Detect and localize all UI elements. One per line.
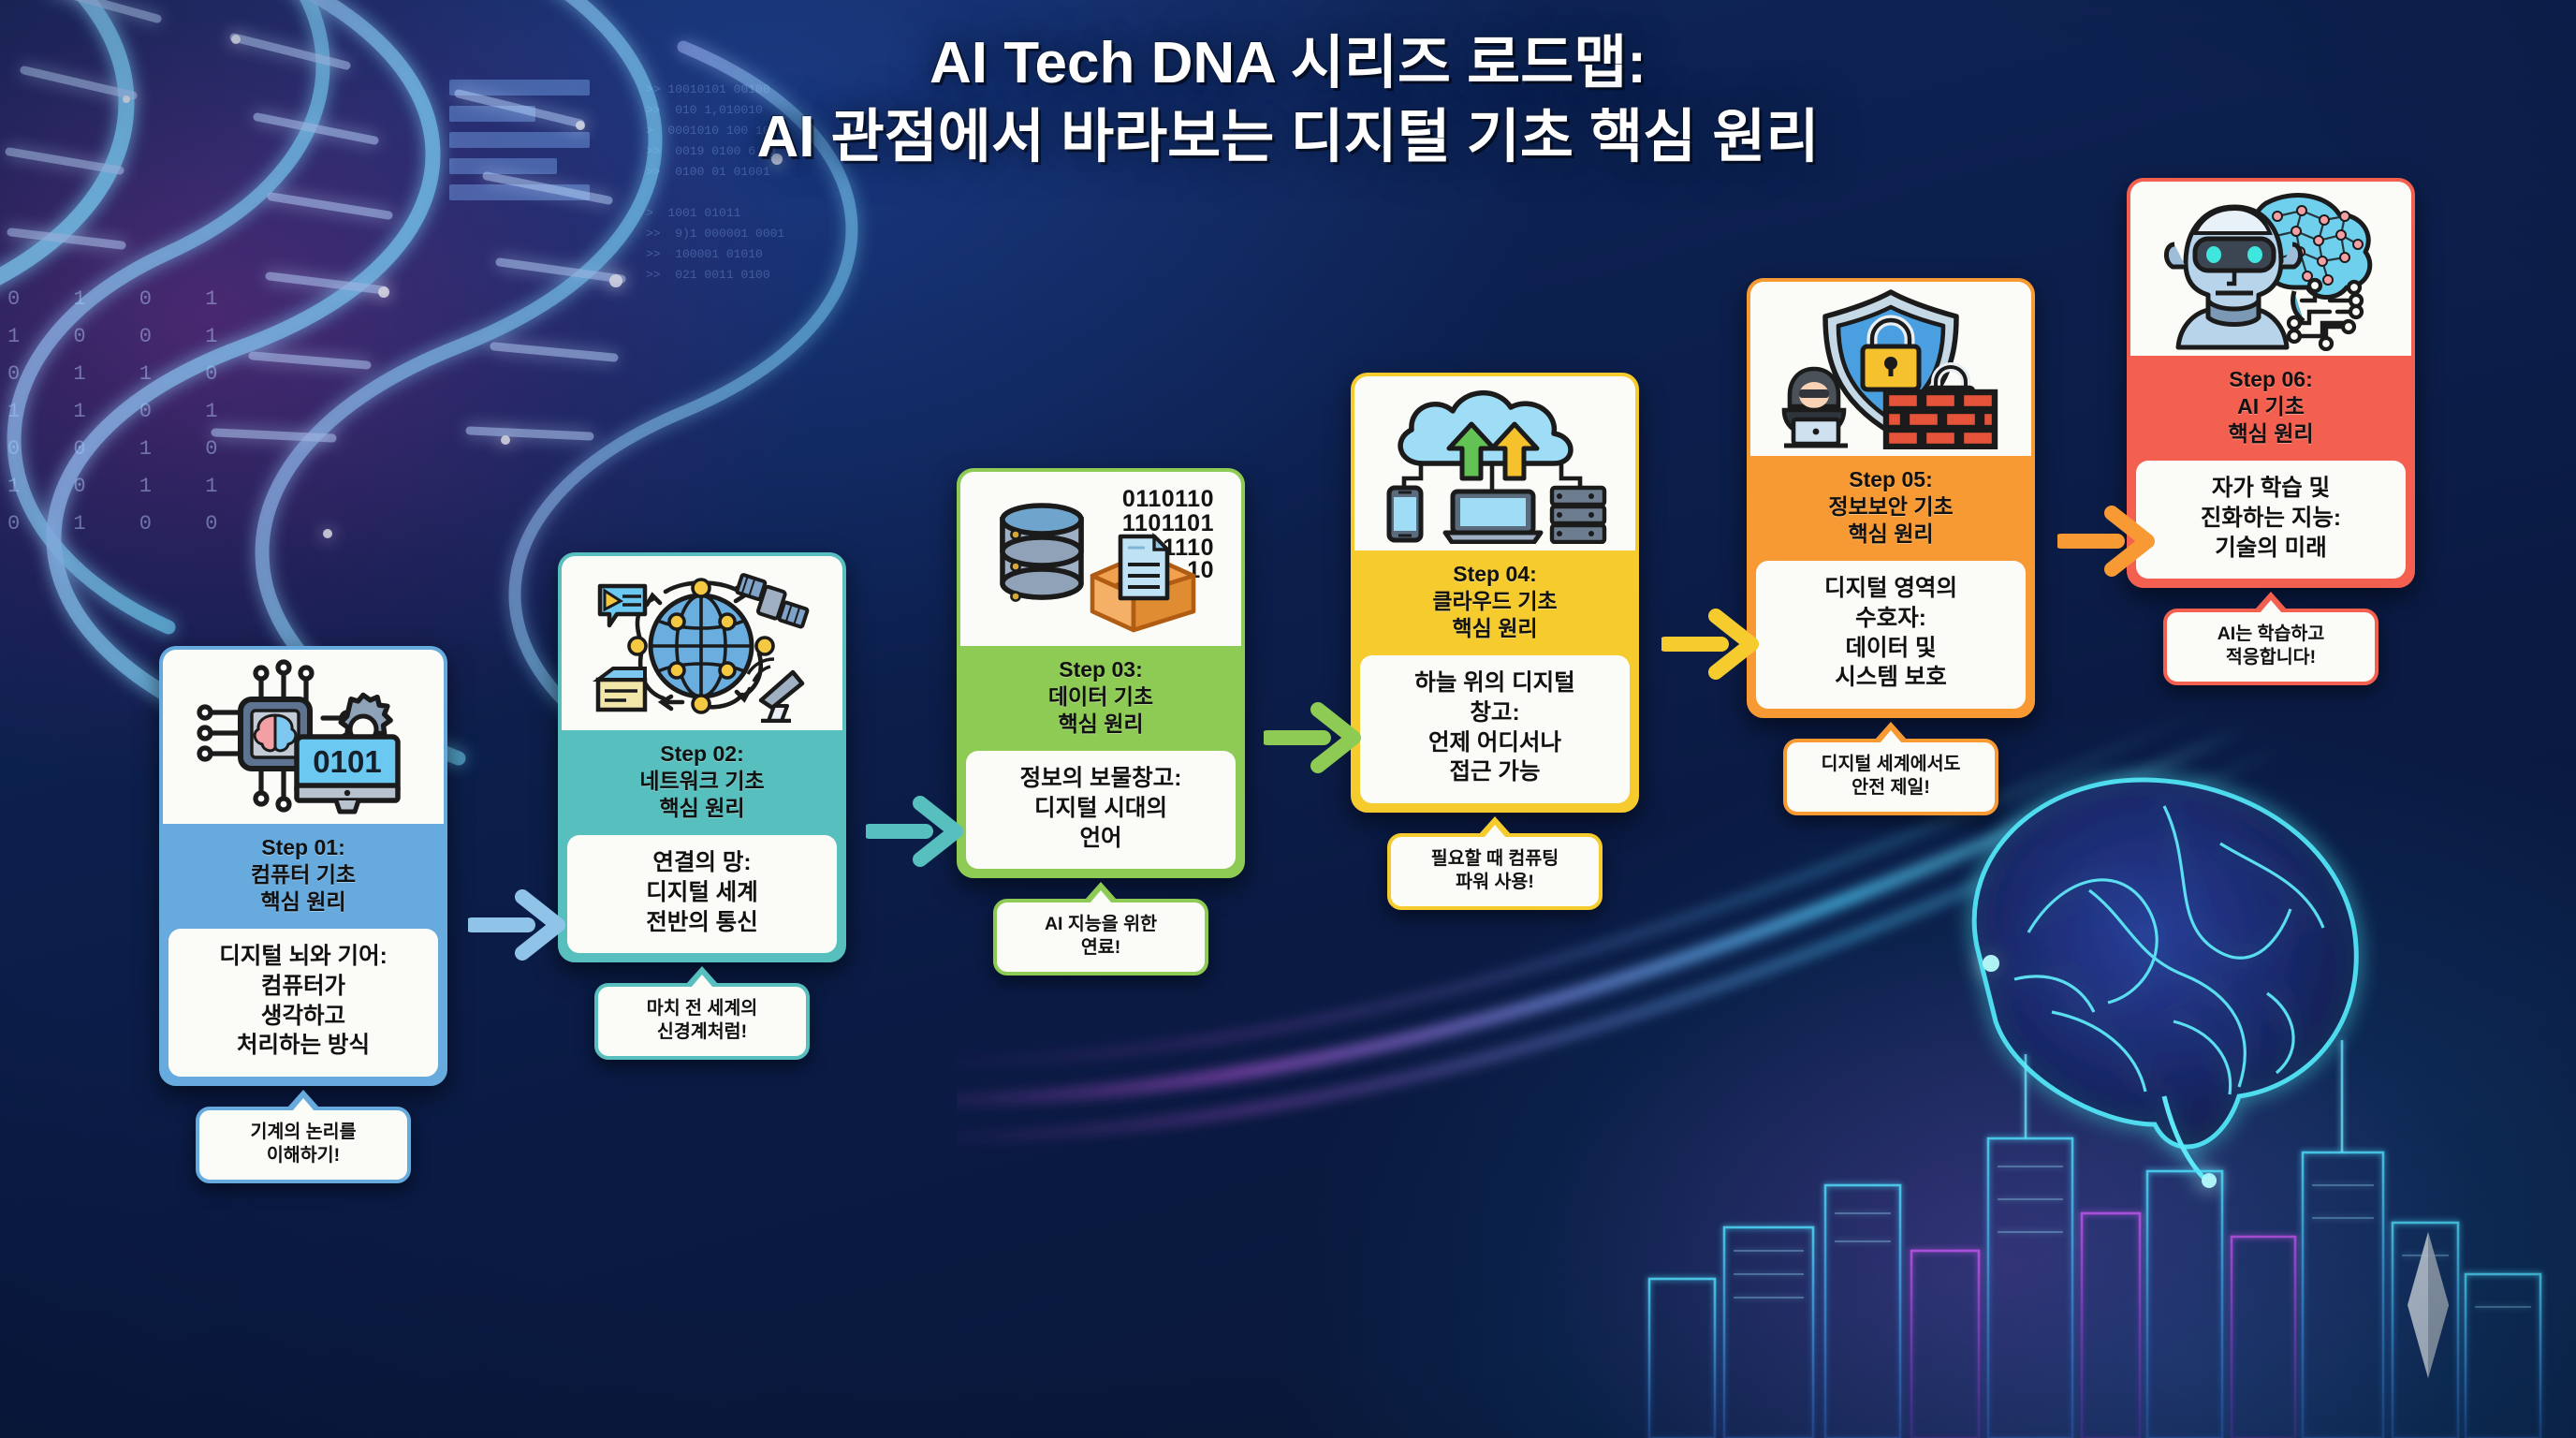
step-03-title: Step 03: 데이터 기초 핵심 원리: [960, 646, 1241, 751]
step-04-callout: 필요할 때 컴퓨팅 파워 사용!: [1387, 833, 1603, 910]
database-box-binary-icon: 0110110 1101101 0101110 10: [960, 472, 1241, 646]
step-01-description: 디지털 뇌와 기어: 컴퓨터가 생각하고 처리하는 방식: [168, 929, 438, 1077]
step-card-step-06[interactable]: Step 06: AI 기초 핵심 원리 자가 학습 및 진화하는 지능: 기술…: [2127, 178, 2415, 685]
step-03-description: 정보의 보물창고: 디지털 시대의 언어: [966, 751, 1236, 870]
step-05-step-label: Step 05:: [1756, 466, 2026, 493]
step-02-title-line2: 핵심 원리: [567, 795, 837, 822]
step-05-card-body: Step 05: 정보보안 기초 핵심 원리 디지털 영역의 수호자: 데이터 …: [1747, 278, 2035, 718]
step-02-step-label: Step 02:: [567, 741, 837, 768]
step-04-card-body: Step 04: 클라우드 기초 핵심 원리 하늘 위의 디지털 창고: 언제 …: [1351, 373, 1639, 813]
step-06-title: Step 06: AI 기초 핵심 원리: [2130, 356, 2411, 461]
step-04-title: Step 04: 클라우드 기초 핵심 원리: [1354, 550, 1635, 655]
step-06-title-line1: AI 기초: [2136, 393, 2406, 420]
step-04-step-label: Step 04:: [1360, 561, 1630, 588]
step-04-description: 하늘 위의 디지털 창고: 언제 어디서나 접근 가능: [1360, 655, 1630, 803]
step-02-card-body: Step 02: 네트워크 기초 핵심 원리 연결의 망: 디지털 세계 전반의…: [558, 552, 846, 962]
step-03-title-line1: 데이터 기초: [966, 683, 1236, 711]
step-01-title: Step 01: 컴퓨터 기초 핵심 원리: [163, 824, 444, 929]
arrow-4-to-5: [1661, 599, 1772, 689]
chip-brain-gear-monitor-icon: 0101: [163, 650, 444, 824]
step-06-description: 자가 학습 및 진화하는 지능: 기술의 미래: [2136, 461, 2406, 580]
step-02-title: Step 02: 네트워크 기초 핵심 원리: [562, 730, 842, 835]
arrow-3-to-4: [1264, 693, 1374, 783]
step-card-step-01[interactable]: 0101 Step 01: 컴퓨터 기초 핵심 원리 디지털 뇌와 기어: 컴퓨…: [159, 646, 447, 1183]
step-card-step-05[interactable]: Step 05: 정보보안 기초 핵심 원리 디지털 영역의 수호자: 데이터 …: [1747, 278, 2035, 815]
step-01-title-line2: 핵심 원리: [168, 888, 438, 916]
step-04-title-line2: 핵심 원리: [1360, 615, 1630, 642]
step-card-step-02[interactable]: Step 02: 네트워크 기초 핵심 원리 연결의 망: 디지털 세계 전반의…: [558, 552, 846, 1060]
step-03-callout: AI 지능을 위한 연료!: [993, 899, 1208, 976]
monitor-binary-label: 0101: [313, 744, 381, 779]
arrow-5-to-6: [2057, 496, 2168, 586]
title-line-2: AI 관점에서 바라보는 디지털 기초 핵심 원리: [0, 100, 2576, 174]
cloud-devices-server-icon: [1354, 376, 1635, 550]
shield-lock-firewall-hacker-icon: [1750, 282, 2031, 456]
step-05-title: Step 05: 정보보안 기초 핵심 원리: [1750, 456, 2031, 561]
title-line-1: AI Tech DNA 시리즈 로드맵:: [0, 26, 2576, 100]
step-01-callout: 기계의 논리를 이해하기!: [196, 1107, 411, 1183]
step-03-step-label: Step 03:: [966, 656, 1236, 683]
page-title: AI Tech DNA 시리즈 로드맵: AI 관점에서 바라보는 디지털 기초…: [0, 26, 2576, 175]
step-06-title-line2: 핵심 원리: [2136, 420, 2406, 448]
binary-line-1: 0110110: [1122, 486, 1214, 512]
step-03-title-line2: 핵심 원리: [966, 711, 1236, 738]
step-02-title-line1: 네트워크 기초: [567, 768, 837, 795]
step-card-step-04[interactable]: Step 04: 클라우드 기초 핵심 원리 하늘 위의 디지털 창고: 언제 …: [1351, 373, 1639, 910]
step-01-step-label: Step 01:: [168, 834, 438, 861]
step-06-callout: AI는 학습하고 적응합니다!: [2163, 609, 2378, 685]
step-05-callout: 디지털 세계에서도 안전 제일!: [1783, 739, 1998, 815]
globe-network-satellite-icon: [562, 556, 842, 730]
arrow-2-to-3: [866, 786, 976, 876]
step-05-title-line1: 정보보안 기초: [1756, 493, 2026, 521]
step-06-step-label: Step 06:: [2136, 366, 2406, 393]
step-06-card-body: Step 06: AI 기초 핵심 원리 자가 학습 및 진화하는 지능: 기술…: [2127, 178, 2415, 588]
step-02-callout: 마치 전 세계의 신경계처럼!: [594, 983, 810, 1060]
step-card-step-03[interactable]: 0110110 1101101 0101110 10: [957, 468, 1245, 976]
step-04-title-line1: 클라우드 기초: [1360, 588, 1630, 615]
step-03-card-body: 0110110 1101101 0101110 10: [957, 468, 1245, 878]
arrow-1-to-2: [468, 880, 578, 970]
step-01-title-line1: 컴퓨터 기초: [168, 861, 438, 888]
step-05-title-line2: 핵심 원리: [1756, 521, 2026, 548]
binary-line-2: 1101101: [1122, 510, 1214, 536]
step-05-description: 디지털 영역의 수호자: 데이터 및 시스템 보호: [1756, 561, 2026, 709]
step-02-description: 연결의 망: 디지털 세계 전반의 통신: [567, 835, 837, 954]
roadmap-flow: 0101 Step 01: 컴퓨터 기초 핵심 원리 디지털 뇌와 기어: 컴퓨…: [0, 0, 2576, 1438]
step-01-card-body: 0101 Step 01: 컴퓨터 기초 핵심 원리 디지털 뇌와 기어: 컴퓨…: [159, 646, 447, 1086]
robot-brain-circuit-icon: [2130, 182, 2411, 356]
